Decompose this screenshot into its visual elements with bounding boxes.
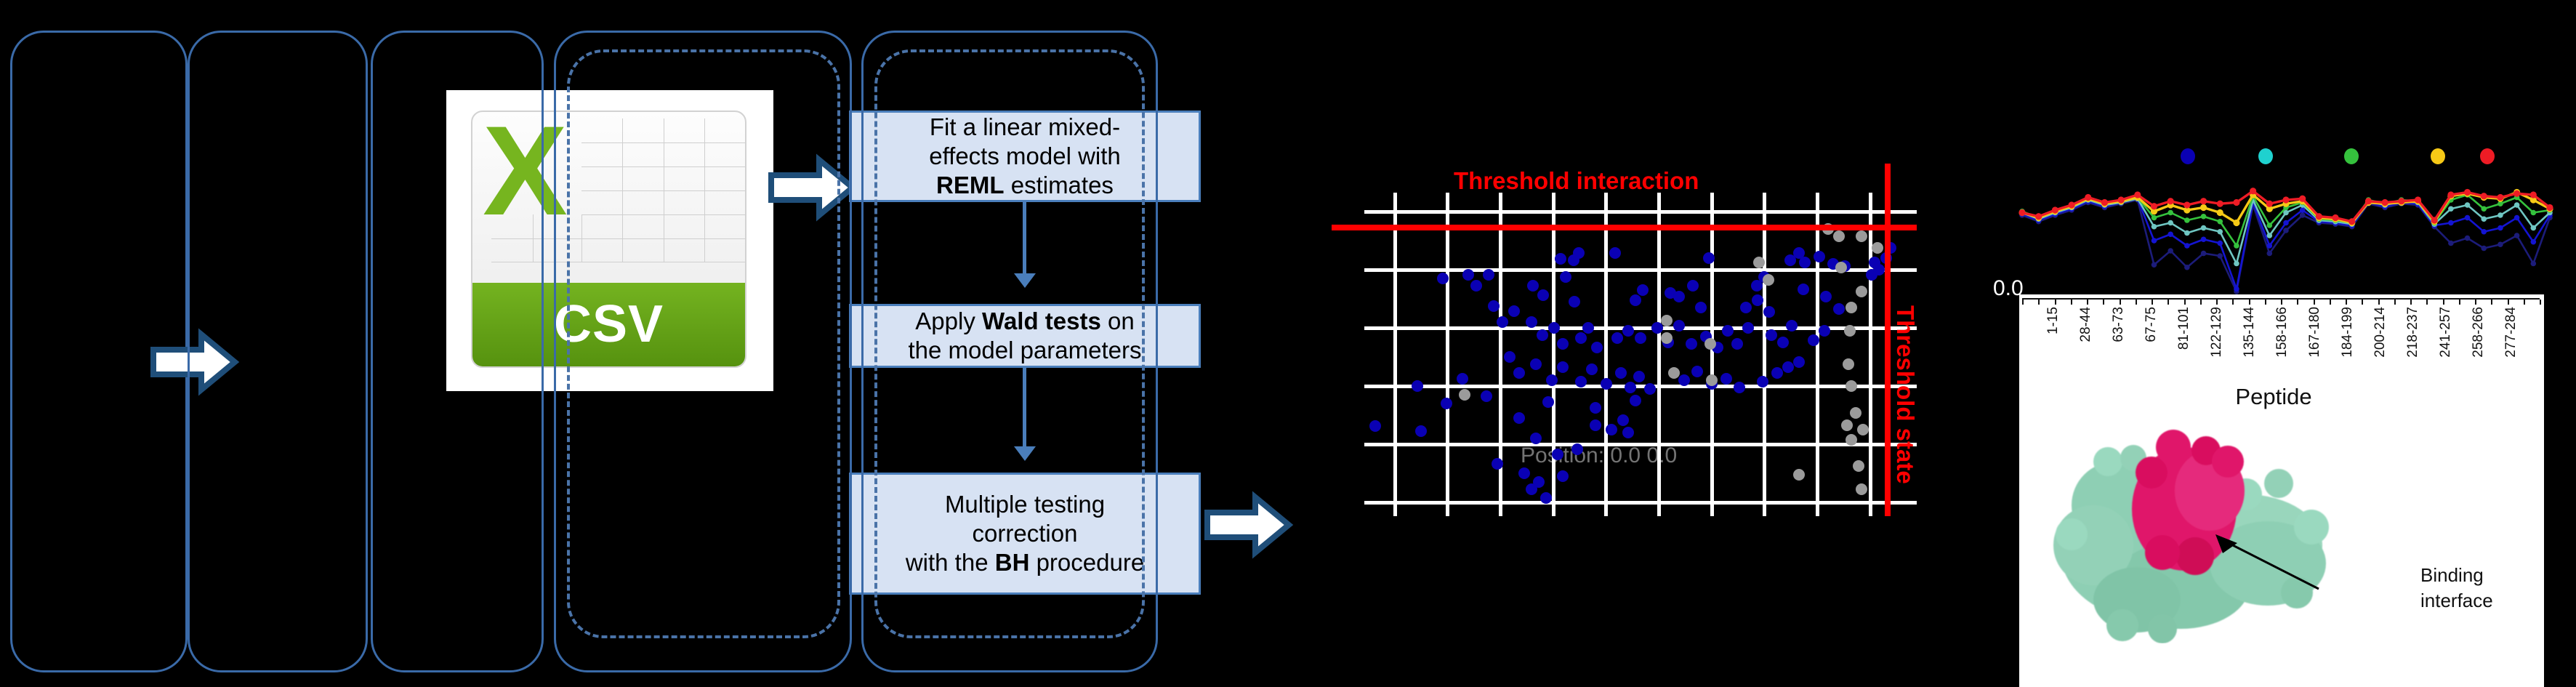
series-point-green	[2152, 215, 2157, 221]
point-significant	[1722, 325, 1734, 337]
point-nonsignificant	[1668, 367, 1680, 379]
point-significant	[1617, 414, 1629, 426]
series-point-cyan	[2217, 229, 2223, 235]
point-significant	[1606, 424, 1617, 435]
binding-interface-label-line1: Binding	[2420, 563, 2484, 587]
point-significant	[1799, 257, 1811, 268]
point-significant	[1771, 367, 1783, 379]
series-point-red	[2085, 194, 2091, 201]
series-point-yellow	[2200, 204, 2207, 211]
point-significant	[1686, 338, 1697, 350]
series-point-dark-navy	[2514, 233, 2520, 238]
point-significant	[1752, 294, 1763, 306]
point-significant	[1615, 367, 1627, 379]
series-point-red	[2118, 196, 2125, 203]
point-nonsignificant	[1856, 230, 1867, 242]
series-point-cyan	[2184, 230, 2190, 236]
series-point-red	[2431, 217, 2438, 223]
peptide-profile-chart	[2006, 138, 2559, 309]
grid-v	[1710, 193, 1714, 516]
threshold-state-label: Threshold state	[1891, 305, 1919, 484]
point-significant	[1687, 280, 1699, 292]
series-point-green	[2234, 243, 2239, 249]
grid-v	[1763, 193, 1766, 516]
peptide-tick-label: 218-237	[2405, 307, 2421, 358]
series-point-red	[2018, 209, 2025, 216]
point-nonsignificant	[1843, 358, 1854, 370]
point-significant	[1814, 251, 1825, 262]
series-point-blue	[2168, 231, 2173, 237]
series-point-blue	[2267, 243, 2273, 249]
point-significant	[1637, 284, 1649, 296]
statistics-panel	[371, 31, 544, 672]
series-point-blue	[2465, 215, 2471, 221]
series-point-red	[2282, 196, 2289, 203]
point-nonsignificant	[1704, 338, 1716, 350]
threshold-interaction-line	[1332, 225, 1917, 230]
series-point-dark-navy	[2184, 265, 2190, 270]
point-significant	[1542, 396, 1554, 408]
peptide-tick-label: 81-101	[2176, 307, 2192, 350]
series-point-red	[2101, 199, 2108, 206]
point-significant	[1798, 284, 1809, 295]
series-point-green	[2481, 206, 2487, 212]
peptide-tick-label: 258-266	[2471, 307, 2487, 358]
point-significant	[1518, 467, 1530, 479]
peptide-tick-label: 28-44	[2078, 307, 2094, 342]
series-point-red	[2134, 191, 2141, 198]
series-point-red	[2151, 203, 2157, 209]
series-point-blue	[2300, 207, 2306, 213]
point-nonsignificant	[1835, 262, 1847, 273]
point-significant	[1552, 449, 1563, 460]
peptide-tick-label: 1-15	[2045, 307, 2061, 334]
point-significant	[1630, 395, 1641, 406]
point-significant	[1526, 483, 1537, 495]
point-significant	[1673, 291, 1685, 302]
point-nonsignificant	[1753, 257, 1765, 268]
peptide-tick-label: 135-144	[2242, 307, 2258, 358]
point-significant	[1582, 322, 1594, 334]
point-significant	[1540, 492, 1552, 504]
series-point-red	[2183, 201, 2190, 208]
point-nonsignificant	[1846, 302, 1857, 313]
series-point-dark-navy	[2267, 251, 2273, 257]
series-point-red	[2398, 198, 2404, 204]
series-point-cyan	[2267, 233, 2273, 238]
series-point-blue	[2283, 220, 2289, 226]
point-significant	[1630, 294, 1641, 306]
series-point-red	[2513, 190, 2520, 197]
point-significant	[1441, 398, 1452, 409]
point-significant	[1703, 252, 1715, 264]
point-significant	[1560, 271, 1571, 283]
point-significant	[1622, 325, 1634, 337]
series-point-red	[2415, 196, 2421, 203]
point-significant	[1415, 425, 1427, 437]
point-nonsignificant	[1872, 242, 1883, 254]
series-point-blue	[2201, 236, 2207, 242]
grid-v	[1393, 193, 1397, 516]
series-point-red	[2217, 201, 2223, 207]
series-point-dark-navy	[2168, 248, 2173, 254]
point-nonsignificant	[1846, 380, 1857, 392]
scatter-results-panel-inner	[567, 49, 840, 638]
csv-panel	[188, 31, 368, 672]
peptide-tick-label: 63-73	[2111, 307, 2127, 342]
point-significant	[1555, 253, 1566, 265]
point-significant	[1731, 338, 1743, 350]
peptide-results-panel-inner	[874, 49, 1145, 638]
point-significant	[1571, 443, 1583, 455]
series-point-green	[2184, 217, 2190, 223]
point-significant	[1590, 419, 1601, 431]
point-nonsignificant	[1459, 389, 1470, 401]
point-significant	[1527, 280, 1539, 292]
series-point-blue	[2217, 241, 2223, 246]
series-point-green	[2531, 210, 2537, 216]
point-nonsignificant	[1661, 315, 1673, 326]
series-point-red	[2332, 214, 2338, 221]
point-nonsignificant	[1856, 483, 1867, 495]
series-point-cyan	[2448, 206, 2454, 212]
point-significant	[1548, 322, 1560, 334]
series-point-dark-navy	[2448, 241, 2454, 246]
point-significant	[1575, 332, 1587, 344]
point-nonsignificant	[1841, 419, 1853, 431]
peptide-tick-label: 277-284	[2503, 307, 2519, 358]
grid-v	[1446, 193, 1449, 516]
faint-axis-text: Position: 0.0 0.0	[1521, 443, 1677, 468]
point-significant	[1742, 322, 1754, 334]
point-significant	[1869, 257, 1880, 268]
point-significant	[1412, 380, 1423, 392]
point-nonsignificant	[1856, 286, 1867, 297]
series-point-red	[2348, 218, 2355, 225]
peptide-tick-label: 67-75	[2144, 307, 2160, 342]
point-significant	[1530, 358, 1542, 370]
series-point-red	[2382, 199, 2388, 206]
point-significant	[1497, 316, 1508, 328]
point-significant	[1546, 374, 1558, 386]
series-point-blue	[2448, 220, 2454, 226]
series-point-blue	[2514, 215, 2520, 221]
point-significant	[1481, 390, 1492, 402]
point-nonsignificant	[1853, 460, 1864, 472]
point-significant	[1573, 247, 1585, 259]
point-significant	[1369, 420, 1381, 432]
point-significant	[1622, 427, 1634, 438]
series-point-dark-navy	[2283, 228, 2289, 233]
series-point-cyan	[2168, 220, 2173, 226]
arrow-model-to-results-icon	[1203, 489, 1294, 561]
threshold-interaction-label: Threshold interaction	[1454, 167, 1699, 195]
threshold-state-line	[1885, 164, 1891, 516]
series-point-cyan	[2201, 225, 2207, 231]
series-point-green	[2168, 210, 2173, 216]
series-point-cyan	[2531, 225, 2537, 231]
point-significant	[1644, 383, 1656, 395]
point-nonsignificant	[1857, 424, 1869, 435]
series-point-red	[2233, 199, 2239, 206]
point-significant	[1691, 366, 1703, 377]
series-point-green	[2267, 222, 2273, 228]
point-significant	[1611, 332, 1623, 344]
point-significant	[1575, 376, 1587, 387]
series-point-cyan	[2234, 261, 2239, 267]
series-point-red	[2068, 201, 2074, 208]
point-significant	[1782, 361, 1794, 373]
series-point-red	[2266, 201, 2273, 207]
point-significant	[1462, 269, 1474, 281]
point-significant	[1492, 458, 1503, 470]
point-significant	[1786, 320, 1798, 332]
series-point-red	[2200, 198, 2207, 204]
series-point-blue	[2152, 238, 2157, 244]
series-point-red	[2035, 213, 2042, 220]
series-point-dark-navy	[2465, 236, 2471, 241]
point-significant	[1557, 361, 1569, 373]
series-point-red	[2497, 194, 2503, 201]
point-significant	[1557, 338, 1569, 350]
point-significant	[1457, 373, 1468, 385]
series-point-red	[2481, 193, 2487, 199]
point-significant	[1470, 280, 1482, 292]
point-significant	[1740, 302, 1752, 313]
series-point-cyan	[2481, 216, 2487, 222]
point-significant	[1504, 351, 1516, 363]
series-point-blue	[2184, 243, 2190, 249]
series-point-blue	[2234, 286, 2239, 292]
grid-v	[1869, 193, 1872, 516]
series-point-red	[2168, 198, 2174, 204]
series-point-red	[2546, 204, 2553, 211]
series-point-cyan	[2465, 202, 2471, 208]
point-significant	[1757, 376, 1768, 387]
point-significant	[1488, 300, 1500, 312]
point-significant	[1793, 356, 1805, 368]
threshold-scatter-plot: Position: 0.0 0.0	[1364, 193, 1917, 516]
point-nonsignificant	[1661, 332, 1673, 344]
point-significant	[1833, 303, 1845, 315]
point-significant	[1508, 305, 1520, 317]
peptide-tick-label: 184-199	[2340, 307, 2356, 358]
series-point-blue	[2497, 225, 2503, 231]
series-point-dark-navy	[2152, 262, 2157, 268]
point-significant	[1720, 373, 1732, 385]
point-significant	[1513, 412, 1525, 424]
series-point-green	[2201, 214, 2207, 220]
point-significant	[1437, 273, 1449, 284]
series-point-red	[2299, 196, 2306, 202]
grid-v	[1816, 193, 1819, 516]
point-significant	[1590, 402, 1601, 414]
peptide-series-svg	[2006, 138, 2559, 309]
point-significant	[1678, 374, 1690, 386]
point-significant	[1591, 342, 1603, 353]
series-point-red	[2250, 188, 2256, 194]
point-significant	[1819, 325, 1830, 337]
point-significant	[1586, 363, 1598, 375]
peptide-tick-label: 158-166	[2274, 307, 2290, 358]
point-significant	[1609, 247, 1621, 259]
peptide-tick-labels: 1-1528-4463-7367-7581-101122-129135-1441…	[2022, 307, 2540, 383]
point-significant	[1763, 306, 1775, 318]
point-significant	[1526, 316, 1537, 328]
series-point-red	[2052, 206, 2058, 213]
peptide-tick-label: 200-214	[2372, 307, 2388, 358]
series-point-dark-navy	[2497, 241, 2503, 247]
point-nonsignificant	[1850, 407, 1861, 419]
point-significant	[1601, 378, 1612, 390]
point-significant	[1537, 329, 1548, 341]
series-point-red	[2365, 198, 2372, 204]
series-point-cyan	[2152, 224, 2157, 230]
series-point-cyan	[2497, 212, 2503, 218]
point-significant	[1777, 337, 1789, 348]
point-nonsignificant	[1793, 469, 1805, 481]
series-point-cyan	[2514, 202, 2520, 208]
point-significant	[1635, 332, 1646, 344]
point-significant	[1673, 320, 1685, 332]
point-nonsignificant	[1844, 325, 1856, 337]
point-significant	[1625, 382, 1636, 393]
series-point-yellow	[2217, 209, 2223, 216]
point-significant	[1766, 329, 1777, 341]
peptide-tick-label: 241-257	[2438, 307, 2454, 358]
point-nonsignificant	[1833, 230, 1845, 242]
point-nonsignificant	[1763, 274, 1774, 286]
point-significant	[1734, 382, 1745, 393]
series-point-blue	[2481, 229, 2487, 235]
point-significant	[1569, 296, 1580, 308]
series-point-dark-navy	[2481, 246, 2487, 252]
series-point-dark-navy	[2300, 212, 2306, 218]
point-significant	[1808, 334, 1819, 346]
peptide-xlabel: Peptide	[2019, 384, 2528, 410]
series-point-red	[2464, 189, 2471, 196]
series-point-green	[2217, 219, 2223, 225]
point-significant	[1483, 269, 1494, 281]
series-point-red	[2316, 213, 2322, 220]
series-point-dark-navy	[2531, 261, 2537, 267]
point-significant	[1513, 367, 1525, 379]
point-significant	[1633, 371, 1645, 382]
point-significant	[1820, 291, 1832, 302]
point-significant	[1557, 470, 1569, 482]
series-point-red	[2530, 191, 2537, 198]
series-point-dark-navy	[2217, 253, 2223, 259]
peptide-tick-label: 122-129	[2209, 307, 2225, 358]
point-significant	[1695, 302, 1707, 313]
point-significant	[1530, 433, 1542, 444]
peptide-tick-label: 167-180	[2307, 307, 2323, 358]
series-point-dark-navy	[2201, 251, 2207, 257]
series-point-yellow	[2233, 220, 2239, 226]
series-point-red	[2447, 191, 2454, 198]
point-nonsignificant	[1846, 434, 1857, 446]
point-nonsignificant	[1706, 374, 1718, 386]
series-point-blue	[2531, 239, 2537, 245]
binding-interface-label-line2: interface	[2420, 589, 2493, 613]
protein-surface-figure	[2028, 418, 2420, 643]
point-significant	[1537, 289, 1549, 301]
